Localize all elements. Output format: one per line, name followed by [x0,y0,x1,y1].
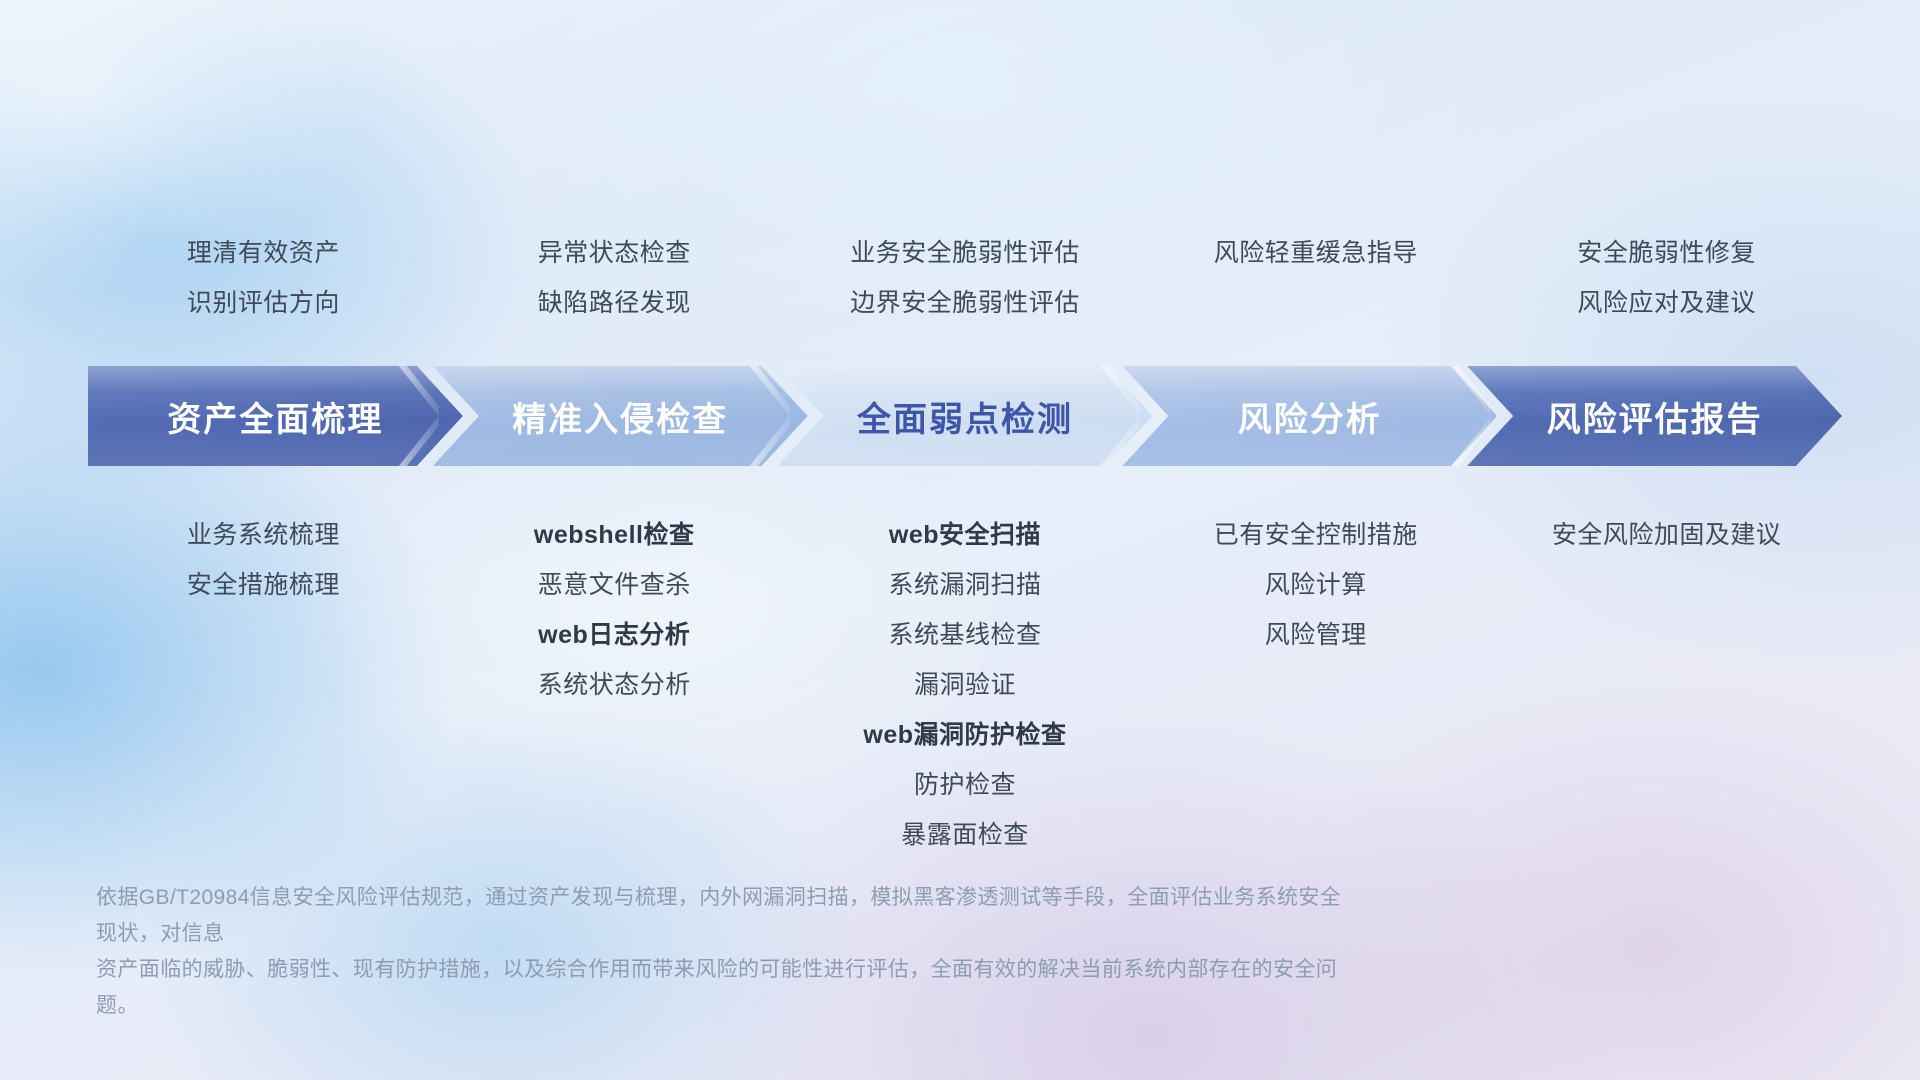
note-line: 暴露面检查 [790,810,1141,860]
bottom-notes-stage-5: 安全风险加固及建议 [1491,510,1842,860]
stage-chevron-3[interactable]: 全面弱点检测 [778,366,1153,466]
note-line: 缺陷路径发现 [439,278,790,328]
stage-label: 全面弱点检测 [857,392,1073,441]
note-line: 风险轻重缓急指导 [1140,228,1491,278]
note-line: 异常状态检查 [439,228,790,278]
note-line: web安全扫描 [790,510,1141,560]
note-line: 风险应对及建议 [1491,278,1842,328]
top-notes-row: 理清有效资产 识别评估方向 异常状态检查 缺陷路径发现 业务安全脆弱性评估 边界… [88,228,1842,328]
note-line: 系统漏洞扫描 [790,560,1141,610]
stage-chevron-2[interactable]: 精准入侵检查 [433,366,808,466]
note-line: 理清有效资产 [88,228,439,278]
bottom-notes-row: 业务系统梳理 安全措施梳理 webshell检查 恶意文件查杀 web日志分析 … [88,510,1842,860]
note-line: web日志分析 [439,610,790,660]
note-line: webshell检查 [439,510,790,560]
top-notes-stage-1: 理清有效资产 识别评估方向 [88,228,439,328]
stage-label: 资产全面梳理 [167,392,383,441]
top-notes-stage-2: 异常状态检查 缺陷路径发现 [439,228,790,328]
note-line: 业务系统梳理 [88,510,439,560]
note-line: 已有安全控制措施 [1140,510,1491,560]
note-line: 系统基线检查 [790,610,1141,660]
bottom-notes-stage-2: webshell检查 恶意文件查杀 web日志分析 系统状态分析 [439,510,790,860]
note-line: 业务安全脆弱性评估 [790,228,1141,278]
note-line: 漏洞验证 [790,660,1141,710]
stage-chevron-5[interactable]: 风险评估报告 [1467,366,1842,466]
footer-line-2: 资产面临的威胁、脆弱性、现有防护措施，以及综合作用而带来风险的可能性进行评估，全… [96,952,1360,1024]
note-line: 风险计算 [1140,560,1491,610]
note-line: 安全风险加固及建议 [1491,510,1842,560]
note-line: 系统状态分析 [439,660,790,710]
note-line: web漏洞防护检查 [790,710,1141,760]
infographic-canvas: 理清有效资产 识别评估方向 异常状态检查 缺陷路径发现 业务安全脆弱性评估 边界… [0,0,1920,1080]
note-line: 风险管理 [1140,610,1491,660]
top-notes-stage-3: 业务安全脆弱性评估 边界安全脆弱性评估 [790,228,1141,328]
bottom-notes-stage-3: web安全扫描 系统漏洞扫描 系统基线检查 漏洞验证 web漏洞防护检查 防护检… [790,510,1141,860]
note-line: 安全脆弱性修复 [1491,228,1842,278]
stage-label: 精准入侵检查 [512,392,728,441]
stage-chevron-4[interactable]: 风险分析 [1122,366,1497,466]
bottom-notes-stage-1: 业务系统梳理 安全措施梳理 [88,510,439,860]
bottom-notes-stage-4: 已有安全控制措施 风险计算 风险管理 [1140,510,1491,860]
process-arrow-band: 资产全面梳理 精准入侵检查 全面弱点检测 风险分析 风险评估报告 [88,366,1842,466]
footer-line-1: 依据GB/T20984信息安全风险评估规范，通过资产发现与梳理，内外网漏洞扫描，… [96,880,1360,952]
note-line: 恶意文件查杀 [439,560,790,610]
note-line: 识别评估方向 [88,278,439,328]
top-notes-stage-5: 安全脆弱性修复 风险应对及建议 [1491,228,1842,328]
top-notes-stage-4: 风险轻重缓急指导 [1140,228,1491,328]
stage-label: 风险评估报告 [1547,392,1763,441]
stage-chevron-1[interactable]: 资产全面梳理 [88,366,463,466]
stage-label: 风险分析 [1238,392,1382,441]
note-line: 边界安全脆弱性评估 [790,278,1141,328]
footer-description: 依据GB/T20984信息安全风险评估规范，通过资产发现与梳理，内外网漏洞扫描，… [96,880,1360,1024]
note-line: 防护检查 [790,760,1141,810]
note-line: 安全措施梳理 [88,560,439,610]
